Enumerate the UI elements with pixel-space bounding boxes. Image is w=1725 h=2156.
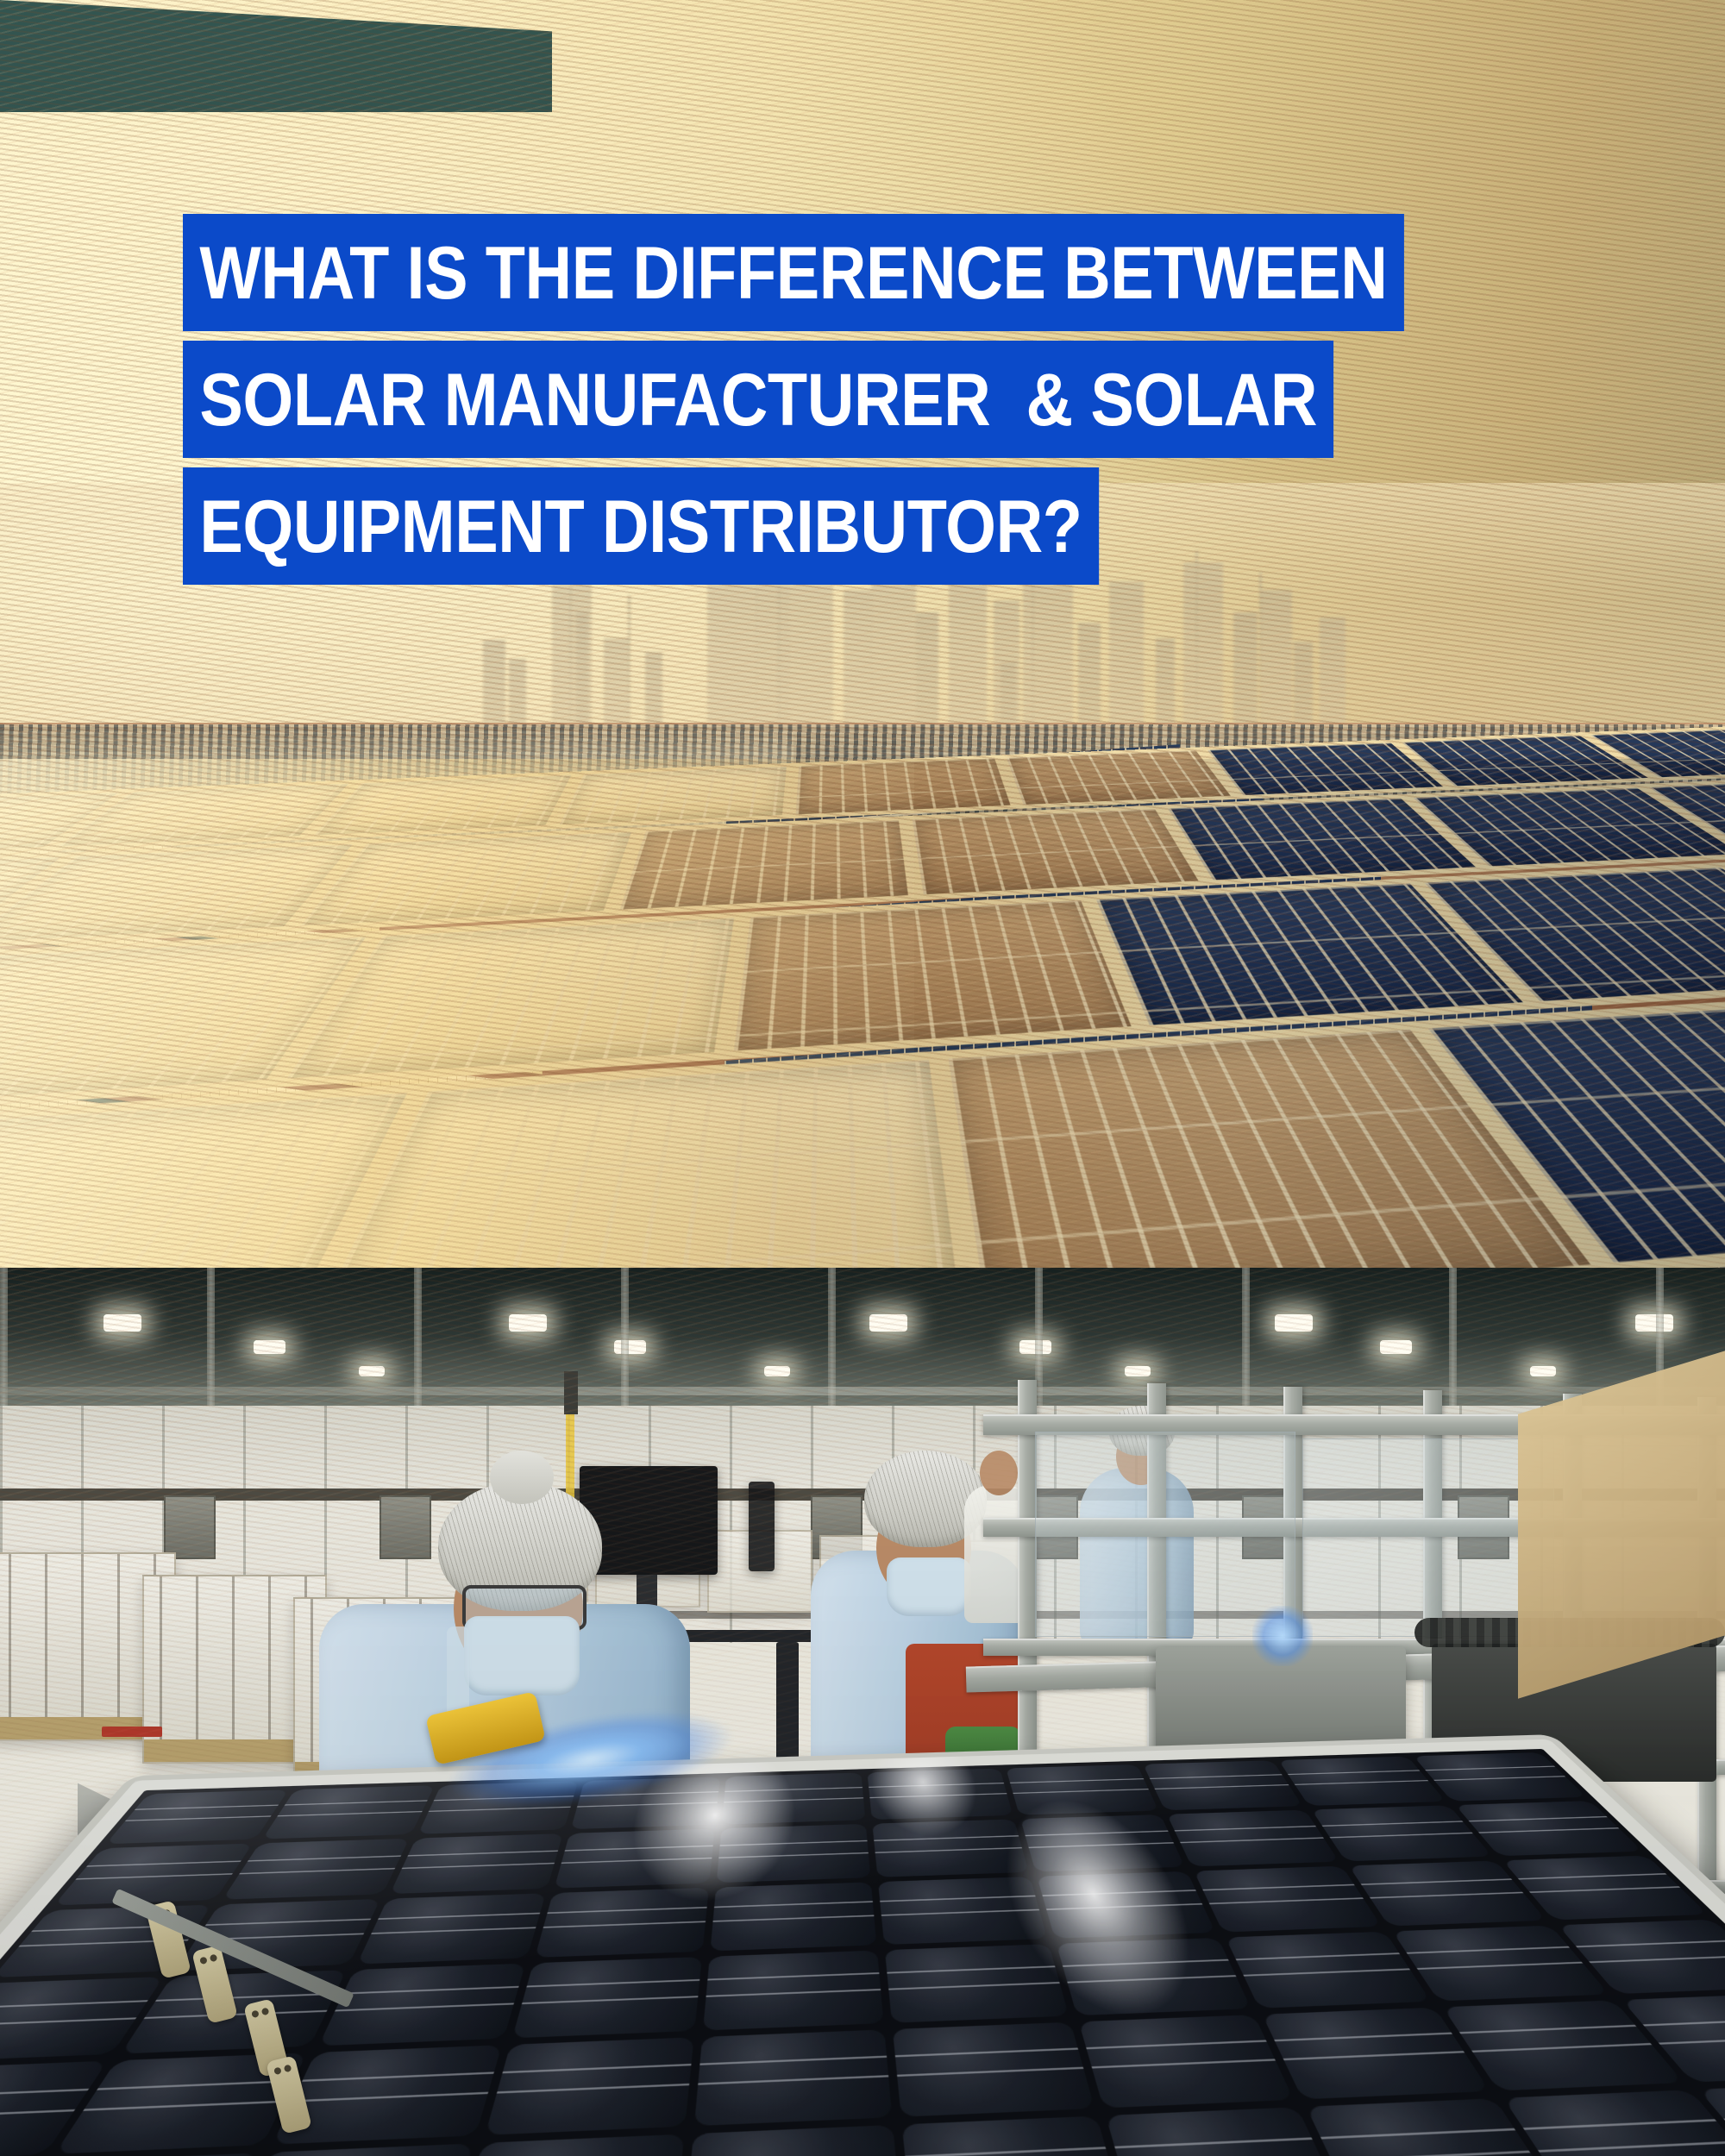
poster-canvas: WHAT IS THE DIFFERENCE BETWEEN SOLAR MAN… [0,0,1725,2156]
headline-line-1: WHAT IS THE DIFFERENCE BETWEEN [183,214,1404,331]
headline-line-3: EQUIPMENT DISTRIBUTOR? [183,467,1099,585]
headline: WHAT IS THE DIFFERENCE BETWEEN SOLAR MAN… [183,214,1571,594]
headline-line-2: SOLAR MANUFACTURER & SOLAR [183,341,1333,458]
